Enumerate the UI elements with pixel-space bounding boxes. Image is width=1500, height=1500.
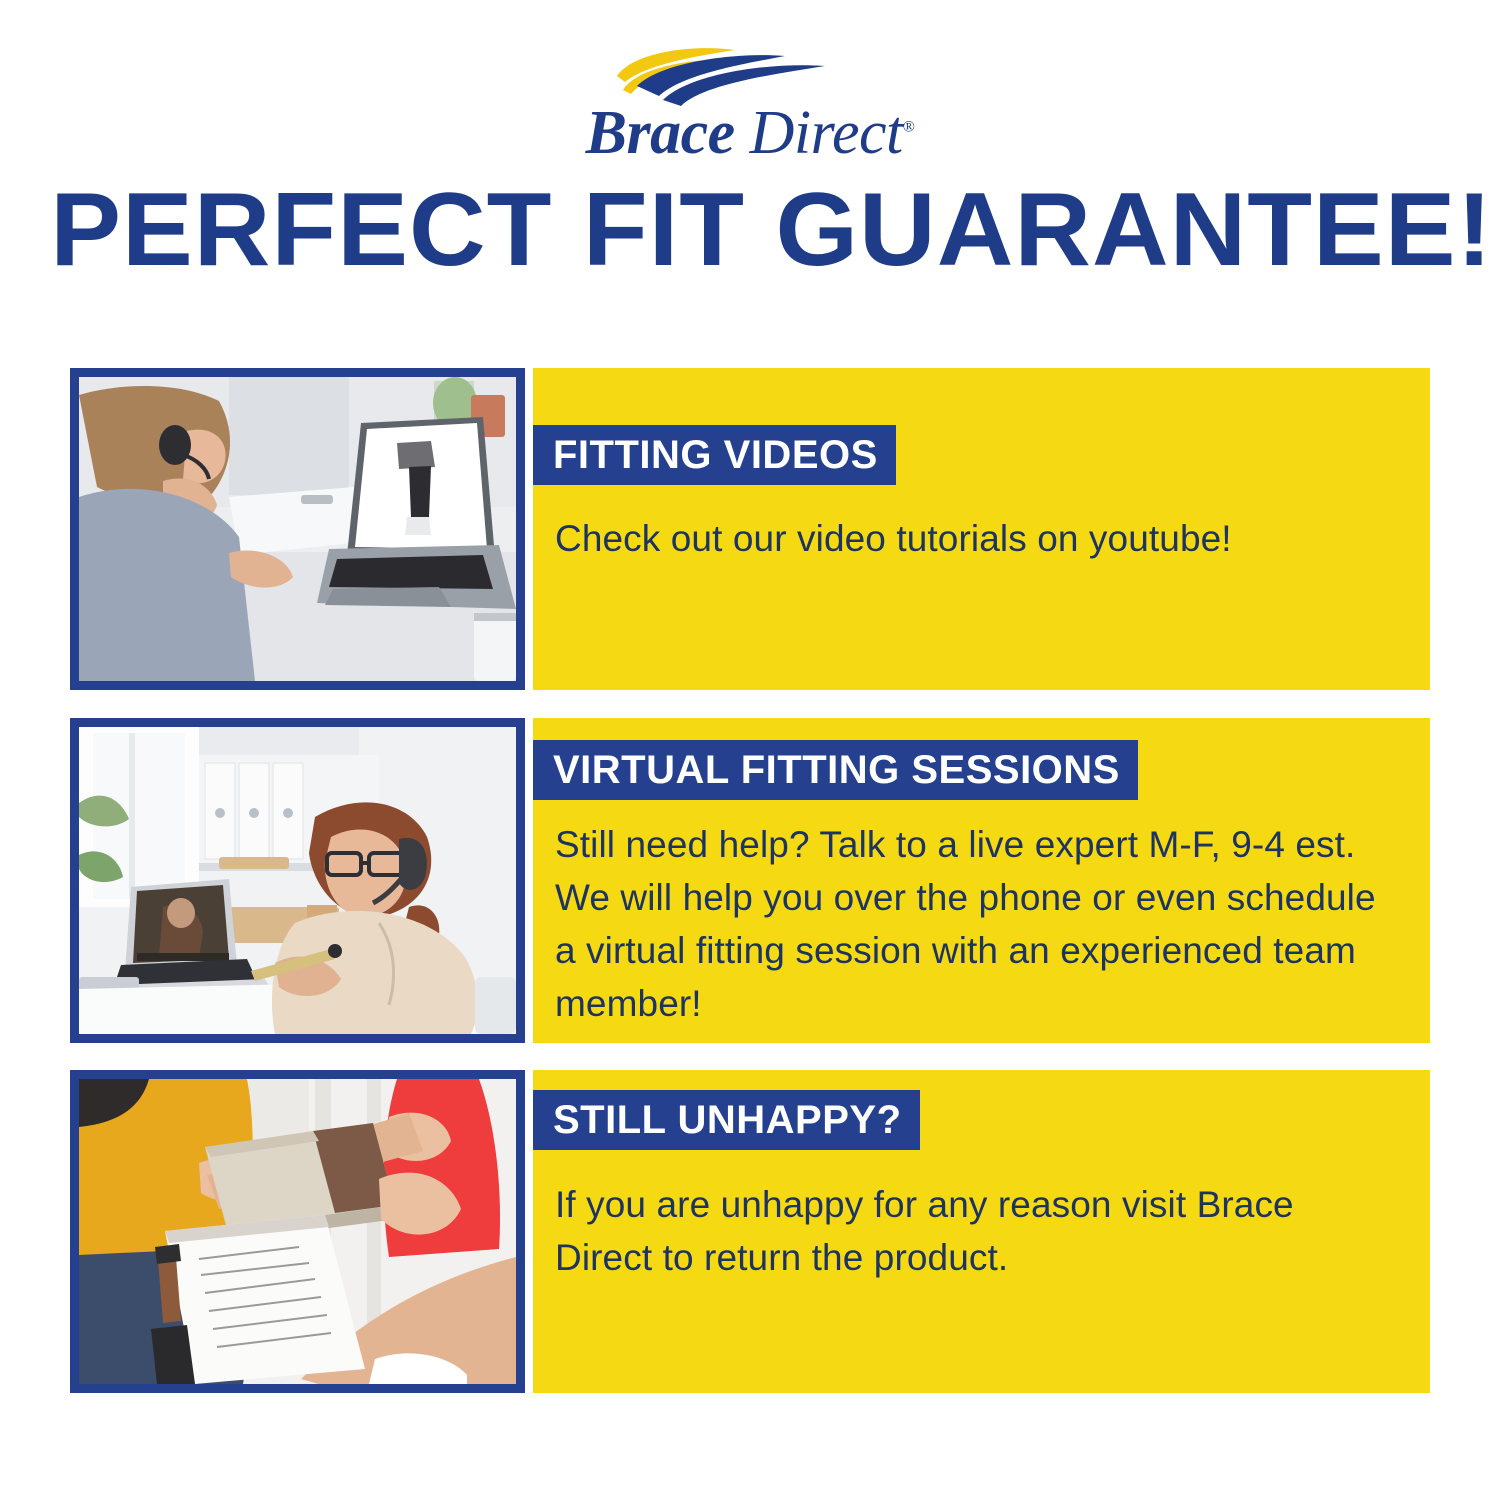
feature-row-virtual-fitting-sessions: VIRTUAL FITTING SESSIONS Still need help… [70,718,1430,1043]
section-heading-virtual-fitting-sessions: VIRTUAL FITTING SESSIONS [533,740,1138,800]
perfect-fit-guarantee-infographic: Brace Direct® PERFECT FIT GUARANTEE! [0,0,1500,1500]
registered-trademark-icon: ® [903,118,915,135]
section-body-virtual-fitting-sessions: Still need help? Talk to a live expert M… [555,818,1385,1030]
photo-virtual-fitting-sessions [70,718,525,1043]
logo-word-brace: Brace [586,99,735,167]
photo-fitting-videos [70,368,525,690]
content-panel-fitting-videos: FITTING VIDEOS Check out our video tutor… [533,368,1430,690]
section-body-fitting-videos: Check out our video tutorials on youtube… [555,512,1375,565]
logo-word-direct: Direct [750,99,903,167]
section-body-still-unhappy: If you are unhappy for any reason visit … [555,1178,1385,1284]
section-heading-fitting-videos: FITTING VIDEOS [533,425,896,485]
content-panel-still-unhappy: STILL UNHAPPY? If you are unhappy for an… [533,1070,1430,1393]
feature-row-fitting-videos: FITTING VIDEOS Check out our video tutor… [70,368,1430,690]
section-heading-still-unhappy: STILL UNHAPPY? [533,1090,920,1150]
page-title: PERFECT FIT GUARANTEE! [50,178,1458,282]
photo-still-unhappy-return [70,1070,525,1393]
logo-wordmark: Brace Direct® [586,102,915,164]
content-panel-virtual-fitting-sessions: VIRTUAL FITTING SESSIONS Still need help… [533,718,1430,1043]
brand-logo: Brace Direct® [0,46,1500,166]
feature-row-still-unhappy: STILL UNHAPPY? If you are unhappy for an… [70,1070,1430,1393]
